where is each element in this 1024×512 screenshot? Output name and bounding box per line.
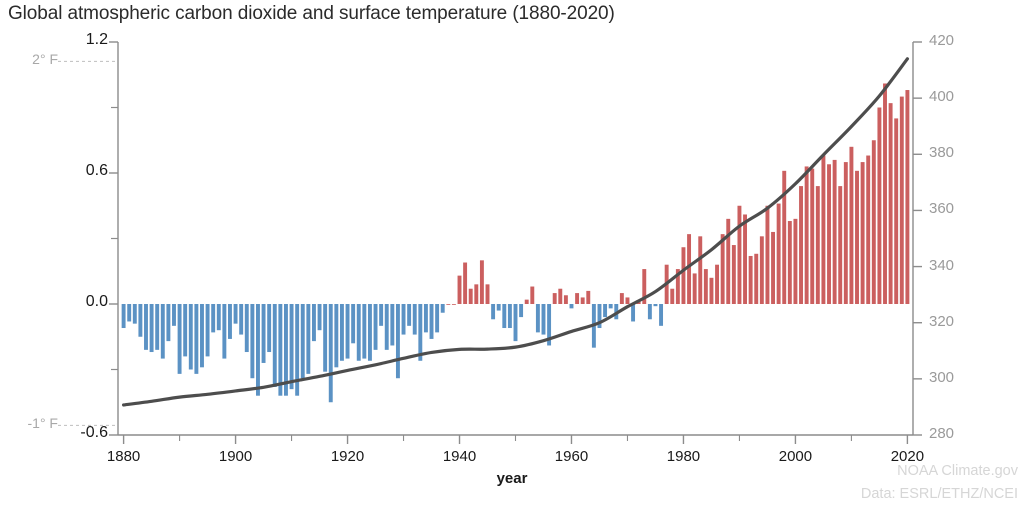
temperature-anomaly-bar [514,304,518,341]
temperature-anomaly-bar [290,304,294,389]
x-tick-label: 2000 [760,448,830,465]
x-tick-label: 1900 [201,448,271,465]
temperature-anomaly-bar [234,304,238,324]
temperature-anomaly-bar [379,304,383,326]
temperature-anomaly-bar [894,118,898,304]
temperature-anomaly-bar [883,83,887,304]
temperature-anomaly-bar [866,156,870,304]
temperature-anomaly-bar [301,304,305,378]
temperature-anomaly-bar [564,295,568,304]
temperature-anomaly-bar [693,273,697,304]
temperature-anomaly-bar [721,234,725,304]
temperature-anomaly-bar [575,293,579,304]
temperature-anomaly-bar [525,300,529,304]
temperature-anomaly-bar [704,269,708,304]
climate-figure: Global atmospheric carbon dioxide and su… [0,0,1024,512]
temperature-anomaly-bar [166,304,170,341]
temperature-anomaly-bar [620,293,624,304]
temperature-anomaly-bar [206,304,210,356]
temperature-anomaly-bar [306,304,310,374]
temperature-anomaly-bar [374,304,378,350]
temperature-anomaly-bar [861,162,865,304]
right-tick-label: 300 [929,369,989,386]
right-tick-label: 380 [929,144,989,161]
right-tick-label: 360 [929,200,989,217]
temperature-anomaly-bar [889,103,893,304]
temperature-anomaly-bar [474,284,478,304]
right-tick-label: 400 [929,88,989,105]
temperature-anomaly-bar [737,206,741,304]
temperature-anomaly-bar [334,304,338,367]
temperature-anomaly-bar [788,221,792,304]
temperature-anomaly-bar [318,304,322,330]
temperature-anomaly-bar [648,304,652,319]
temperature-anomaly-bar [754,254,758,304]
temperature-anomaly-bar [267,304,271,352]
temperature-anomaly-bar [609,304,613,308]
temperature-anomaly-bar [603,304,607,317]
temperature-anomaly-bar [172,304,176,326]
temperature-anomaly-bar [385,304,389,350]
x-tick-label: 1980 [648,448,718,465]
temperature-anomaly-bar [273,304,277,387]
temperature-anomaly-bar [133,304,137,324]
x-tick-label: 1880 [89,448,159,465]
temperature-anomaly-bar [726,219,730,304]
temperature-anomaly-bar [519,304,523,317]
temperature-anomaly-bar [833,160,837,304]
fahrenheit-mark-label: 2° F [0,51,58,67]
temperature-anomaly-bar [144,304,148,350]
temperature-anomaly-bar [340,304,344,361]
temperature-anomaly-bar [183,304,187,356]
temperature-anomaly-bar [872,140,876,304]
plot-canvas [0,0,1024,512]
temperature-anomaly-bar [368,304,372,361]
temperature-anomaly-bar [570,304,574,308]
temperature-anomaly-bar [245,304,249,352]
temperature-anomaly-bar [256,304,260,396]
temperature-anomaly-bar [189,304,193,370]
temperature-anomaly-bar [743,214,747,304]
temperature-anomaly-bar [458,276,462,304]
temperature-anomaly-bar [239,304,243,335]
temperature-anomaly-bar [329,304,333,402]
temperature-anomaly-bar [844,162,848,304]
right-tick-label: 420 [929,32,989,49]
temperature-anomaly-bar [161,304,165,359]
temperature-anomaly-bar [250,304,254,378]
temperature-anomaly-bar [200,304,204,367]
temperature-anomaly-bar [217,304,221,330]
temperature-anomaly-bar [827,164,831,304]
temperature-anomaly-bar [586,291,590,304]
temperature-anomaly-bar [278,304,282,396]
temperature-anomaly-bar [346,304,350,359]
temperature-anomaly-bar [491,304,495,319]
temperature-anomaly-bar [553,293,557,304]
right-tick-label: 340 [929,257,989,274]
temperature-anomaly-bar [777,204,781,304]
temperature-anomaly-bar [838,186,842,304]
temperature-anomaly-bar [351,304,355,343]
temperature-anomaly-bar [715,265,719,304]
temperature-anomaly-bar [127,304,131,321]
temperature-anomaly-bar [905,90,909,304]
temperature-anomaly-bar [413,304,417,335]
temperature-anomaly-bar [155,304,159,350]
temperature-anomaly-bar [771,232,775,304]
temperature-anomaly-bar [396,304,400,378]
temperature-anomaly-bar [402,304,406,335]
temperature-anomaly-bar [799,186,803,304]
temperature-anomaly-bar [390,304,394,345]
temperature-anomaly-bar [502,304,506,328]
temperature-anomaly-bar [670,289,674,304]
temperature-anomaly-bar [194,304,198,374]
temperature-anomaly-bar [138,304,142,337]
temperature-anomaly-bar [659,304,663,326]
temperature-anomaly-bar [877,108,881,305]
temperature-anomaly-bar [654,304,658,306]
x-tick-label: 2020 [872,448,942,465]
temperature-anomaly-bar [178,304,182,374]
temperature-anomaly-bar [150,304,154,352]
temperature-anomaly-bar [312,304,316,341]
temperature-anomaly-bar [452,304,456,305]
temperature-anomaly-bar [900,97,904,304]
temperature-anomaly-bar [581,297,585,304]
temperature-anomaly-bar [463,263,467,304]
temperature-anomaly-bar [228,304,232,339]
fahrenheit-mark-label: -1° F [0,415,58,431]
temperature-anomaly-bar [446,304,450,305]
temperature-anomaly-bar [810,169,814,304]
x-tick-label: 1920 [313,448,383,465]
temperature-anomaly-bar [849,147,853,304]
temperature-anomaly-bar [407,304,411,326]
temperature-anomaly-bar [765,206,769,304]
temperature-anomaly-bar [793,219,797,304]
temperature-anomaly-bar [430,304,434,339]
temperature-anomaly-bar [508,304,512,328]
temperature-anomaly-bar [497,304,501,311]
temperature-anomaly-bar [698,236,702,304]
temperature-anomaly-bar [626,297,630,304]
temperature-anomaly-bar [486,284,490,304]
temperature-anomaly-bar [760,236,764,304]
left-tick-label: 1.2 [48,31,108,49]
temperature-anomaly-bar [749,256,753,304]
temperature-anomaly-bar [709,278,713,304]
temperature-anomaly-bar [424,304,428,332]
x-tick-label: 1940 [425,448,495,465]
temperature-anomaly-bar [682,247,686,304]
temperature-anomaly-bar [222,304,226,359]
temperature-anomaly-bar [542,304,546,335]
temperature-anomaly-bar [441,304,445,313]
temperature-anomaly-bar [357,304,361,361]
temperature-anomaly-bar [530,287,534,304]
left-tick-label: 0.0 [48,293,108,311]
temperature-anomaly-bar [816,186,820,304]
left-tick-label: 0.6 [48,162,108,180]
temperature-anomaly-bar [418,304,422,361]
right-tick-label: 320 [929,313,989,330]
temperature-anomaly-bar [558,289,562,304]
temperature-anomaly-bar [805,166,809,304]
temperature-anomaly-bar [480,260,484,304]
temperature-anomaly-bar [435,304,439,332]
temperature-anomaly-bar [122,304,126,328]
temperature-anomaly-bar [536,304,540,332]
temperature-anomaly-bar [631,304,635,321]
temperature-anomaly-bar [821,156,825,304]
temperature-anomaly-bar [732,245,736,304]
right-tick-label: 280 [929,425,989,442]
temperature-anomaly-bar [362,304,366,359]
temperature-anomaly-bar [211,304,215,332]
temperature-anomaly-bar [262,304,266,363]
temperature-anomaly-bar [469,289,473,304]
temperature-anomaly-bar [323,304,327,372]
temperature-anomaly-bar [855,171,859,304]
x-tick-label: 1960 [536,448,606,465]
